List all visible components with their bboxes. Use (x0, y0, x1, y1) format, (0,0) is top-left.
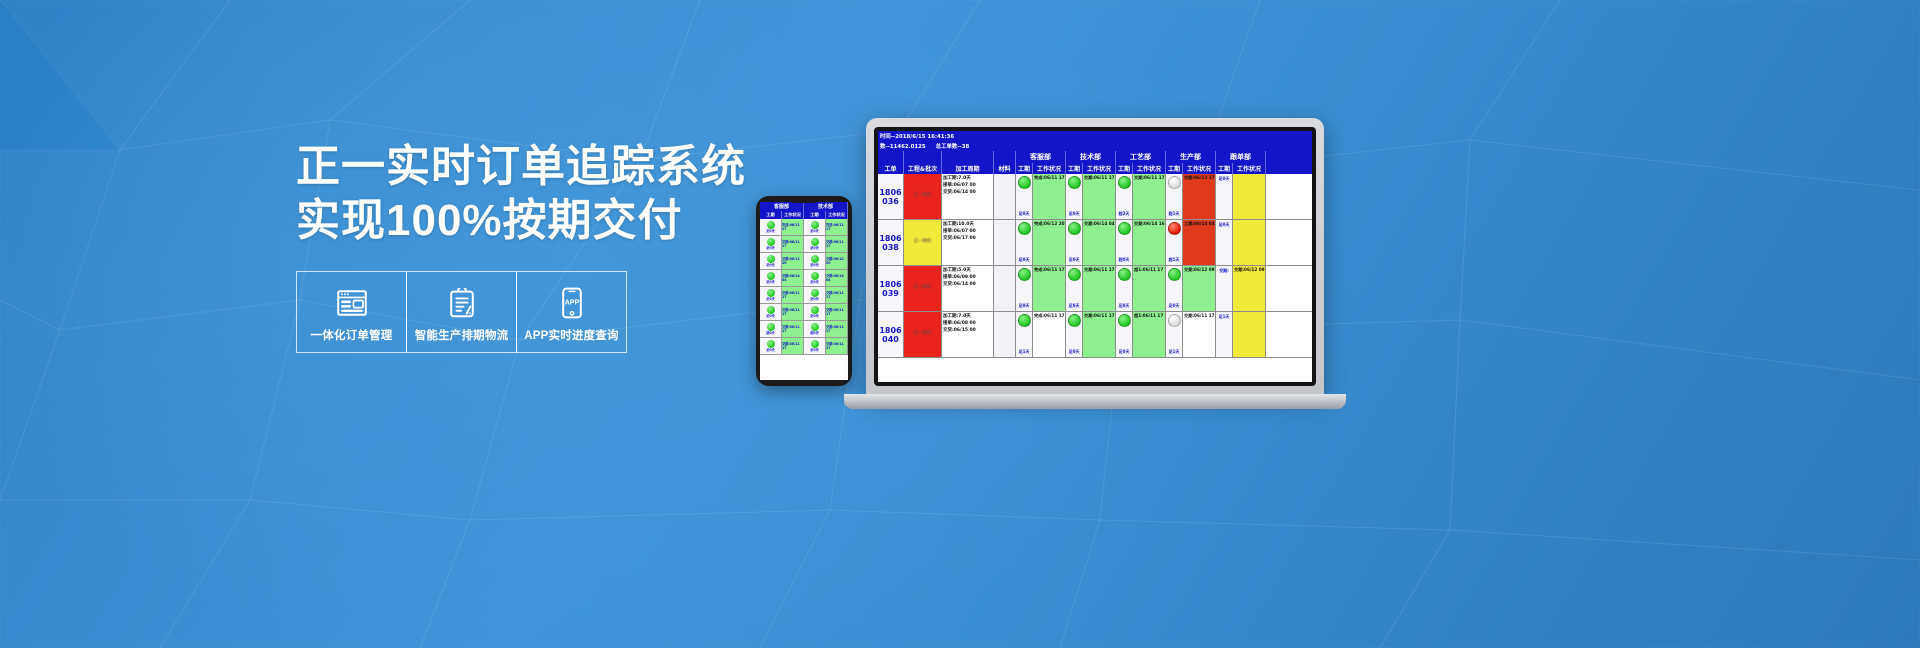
period-line: 接单:06/07 00 (943, 183, 992, 190)
phone-sub-col: 工作状况 (782, 211, 804, 219)
status-indicator-cell[interactable]: 足1天 (1016, 312, 1033, 357)
period-line: 接单:06/07 00 (943, 229, 992, 236)
work-status-line: 超1:06/11 17 (1134, 267, 1164, 273)
work-status-cell[interactable]: 交期:06/12 09 (1233, 266, 1266, 311)
phone-work-line: 交期:06/11 17 (782, 291, 803, 300)
phone-table-row[interactable]: 超0天交期:06/11 17超0天交期:06/11 17 (760, 321, 848, 338)
phone-dept-1: 技术部 (804, 202, 848, 211)
phone-work-cell[interactable]: 交期:06/11 17 (782, 321, 804, 337)
phone-status-dot-green-icon (811, 340, 819, 348)
dashboard-topbar-line2: 数--11462.0125 总工单数--38 (878, 141, 1312, 151)
table-row[interactable]: 1806038正一精机加工期:10.0天接单:06/07 00交货:06/17 … (878, 220, 1312, 266)
clipboard-schedule-icon (449, 286, 475, 320)
status-indicator-cell[interactable]: 足0天 (1116, 266, 1133, 311)
phone-status-note: 足0天 (810, 229, 819, 233)
column-header-1[interactable]: 工程&批次 (904, 163, 942, 174)
headline-line-1: 正一实时订单追踪系统 (296, 142, 746, 191)
work-status-cell[interactable]: 交期:06/11 17 (1083, 174, 1116, 219)
status-indicator-cell[interactable]: 足0天 (1216, 174, 1233, 219)
status-indicator-cell[interactable]: 超1天 (1166, 174, 1183, 219)
work-status-line: 交期:06/14 16 (1134, 221, 1164, 227)
phone-work-line: 交期:06/12 20 (782, 257, 803, 266)
dept-header-spacer (942, 151, 994, 163)
processing-period-cell[interactable]: 加工期:7.0天接单:06/07 00交货:06/14 00 (942, 174, 994, 219)
phone-status-note: 足0天 (810, 263, 819, 267)
work-status-line: 完成:06/11 17 (1034, 267, 1064, 273)
period-line: 交货:06/14 00 (943, 190, 992, 197)
phone-screen: 客服部 技术部 工期 工作状况 工期 工作状况 足0天完成:06/11 17足0… (760, 202, 848, 380)
phone-status-dot-green-icon (767, 289, 775, 297)
project-name: 正一精机 (914, 239, 932, 246)
phone-body: 客服部 技术部 工期 工作状况 工期 工作状况 足0天完成:06/11 17足0… (756, 196, 852, 386)
work-status-cell[interactable] (1233, 312, 1266, 357)
material-cell[interactable] (994, 220, 1016, 265)
processing-period-cell[interactable]: 加工期:10.0天接单:06/07 00交货:06/17 00 (942, 220, 994, 265)
status-note: 足0天 (1069, 257, 1080, 263)
order-number-cell[interactable]: 1806036 (878, 174, 904, 219)
dashboard-count: 数--11462.0125 (880, 142, 926, 150)
sub-header-0-1[interactable]: 工作状况 (1033, 163, 1066, 174)
status-dot-green-icon (1118, 268, 1131, 281)
sub-header-2-1[interactable]: 工作状况 (1133, 163, 1166, 174)
phone-status-note: 足0天 (766, 297, 775, 301)
phone-work-cell[interactable]: 交期:06/11 17 (826, 236, 848, 252)
phone-work-cell[interactable]: 交期:06/11 17 (782, 304, 804, 320)
status-note: 足0天 (1169, 303, 1180, 309)
phone-status-note: 足0天 (766, 314, 775, 318)
phone-work-line: 交期:06/11 17 (826, 342, 847, 351)
phone-status-note: 足0天 (766, 263, 775, 267)
phone-status-note: 超0天 (766, 331, 775, 335)
dept-header-spacer (994, 151, 1016, 163)
work-status-line: 交期:06/11 17 (1134, 175, 1164, 181)
work-status-cell[interactable]: 交期:06/11 17 (1133, 174, 1166, 219)
phone-status-dot-green-icon (811, 323, 819, 331)
phone-table-row[interactable]: 足0天交期:06/12 20足0天交期:06/12 20 (760, 253, 848, 270)
phone-table-row[interactable]: 足0天交期:06/11 17足0天交期:06/11 17 (760, 236, 848, 253)
feature-production-scheduling[interactable]: 智能生产排期物流 (406, 271, 517, 353)
status-note: 足0天 (1019, 257, 1030, 263)
phone-work-line: 交期:06/12 20 (826, 257, 847, 266)
dashboard-time: 时间--2018/6/15 16:41:36 (880, 132, 954, 140)
app-badge-text: APP (564, 297, 579, 306)
phone-work-cell[interactable]: 交期:06/11 17 (782, 338, 804, 354)
phone-status-dot-green-icon (767, 272, 775, 280)
phone-dept-0: 客服部 (760, 202, 804, 211)
status-indicator-cell[interactable]: 足0天 (1066, 220, 1083, 265)
status-note: 足0天 (1119, 303, 1130, 309)
phone-status-note: 足0天 (766, 280, 775, 284)
phone-work-cell[interactable]: 交期:06/11 17 (782, 236, 804, 252)
project-name: 正一精机 (914, 331, 932, 338)
phone-work-cell[interactable]: 完成:06/11 17 (826, 219, 848, 235)
feature-label: 一体化订单管理 (311, 327, 393, 343)
phone-status-dot-green-icon (767, 340, 775, 348)
status-note: 足1天 (1169, 349, 1180, 355)
mobile-app-icon: APP (561, 286, 583, 320)
status-note: 足1天 (1219, 314, 1230, 320)
sub-header-0-0[interactable]: 工期 (1016, 163, 1033, 174)
phone-row-list: 足0天完成:06/11 17足0天完成:06/11 17足0天交期:06/11 … (760, 219, 848, 355)
work-status-cell[interactable]: 完成:06/12 20 (1033, 220, 1066, 265)
phone-sub-col: 工作状况 (826, 211, 848, 219)
material-cell[interactable] (994, 312, 1016, 357)
phone-status-cell[interactable]: 足0天 (804, 287, 826, 303)
laptop-screen: 时间--2018/6/15 16:41:36 数--11462.0125 总工单… (878, 131, 1312, 382)
column-header-0[interactable]: 工单 (878, 163, 904, 174)
status-indicator-cell[interactable]: 足0天 (1016, 174, 1033, 219)
dashboard-topbar: 时间--2018/6/15 16:41:36 数--11462.0125 总工单… (878, 131, 1312, 151)
sub-header-3-1[interactable]: 工作状况 (1183, 163, 1216, 174)
work-status-cell[interactable]: 交期:06/11 17 (1083, 312, 1116, 357)
work-status-cell[interactable]: 交期:06/11 17 (1083, 266, 1116, 311)
period-line: 加工期:5.0天 (943, 268, 992, 275)
project-batch-cell[interactable]: 正一精机 (904, 312, 942, 357)
phone-status-note: 足0天 (810, 280, 819, 284)
status-note: 足0天 (1119, 349, 1130, 355)
phone-sub-col: 工期 (804, 211, 826, 219)
work-status-cell[interactable]: 交期:06/14 16 (1133, 220, 1166, 265)
phone-work-line: 交期:06/11 17 (782, 308, 803, 317)
phone-status-dot-green-icon (811, 238, 819, 246)
dashboard-layout-icon (337, 286, 367, 320)
work-status-cell[interactable]: 超1:06/11 17 (1133, 266, 1166, 311)
laptop-bezel: 时间--2018/6/15 16:41:36 数--11462.0125 总工单… (874, 127, 1316, 386)
work-status-line: 超1:06/11 17 (1134, 313, 1164, 319)
work-status-cell[interactable]: 完成:06/11 17 (1033, 312, 1066, 357)
phone-work-line: 交期:06/11 17 (826, 325, 847, 334)
dashboard-sub-header: 工单工程&批次加工周期材料工期工作状况工期工作状况工期工作状况工期工作状况工期工… (878, 163, 1312, 174)
work-status-line: 交期:06/11 17 (1184, 313, 1214, 319)
period-line: 交货:06/14 00 (943, 282, 992, 289)
phone-status-cell[interactable]: 超0天 (760, 321, 782, 337)
dept-header-4[interactable]: 跟单部 (1216, 151, 1266, 163)
dashboard-topbar-line1: 时间--2018/6/15 16:41:36 (878, 131, 1312, 141)
phone-work-line: 交期:06/14 04 (782, 274, 803, 283)
work-status-line: 交期:06/11 17 (1084, 175, 1114, 181)
processing-period-cell[interactable]: 加工期:5.0天接单:06/09 00交货:06/14 00 (942, 266, 994, 311)
phone-work-cell[interactable]: 交期:06/14 04 (782, 270, 804, 286)
phone-status-cell[interactable]: 足0天 (760, 253, 782, 269)
dashboard-dept-header: 客服部技术部工艺部生产部跟单部 (878, 151, 1312, 163)
status-note: 超2天 (1119, 211, 1130, 217)
project-batch-cell[interactable]: 正一精机 (904, 266, 942, 311)
phone-status-cell[interactable]: 足0天 (804, 236, 826, 252)
sub-header-4-1[interactable]: 工作状况 (1233, 163, 1266, 174)
work-status-line: 交期:06/14 04 (1084, 221, 1114, 227)
status-note: 足1天 (1019, 349, 1030, 355)
column-header-2[interactable]: 加工周期 (942, 163, 994, 174)
sub-header-1-1[interactable]: 工作状况 (1083, 163, 1116, 174)
column-header-3[interactable]: 材料 (994, 163, 1016, 174)
phone-status-dot-green-icon (767, 238, 775, 246)
project-name: 正一精机 (914, 193, 932, 200)
status-note: 超1天 (1169, 257, 1180, 263)
status-dot-green-icon (1018, 268, 1031, 281)
period-line: 接单:06/08 00 (943, 321, 992, 328)
phone-status-dot-green-icon (767, 306, 775, 314)
work-status-cell[interactable] (1233, 174, 1266, 219)
table-row[interactable]: 1806040正一精机加工期:7.0天接单:06/08 00交货:06/15 0… (878, 312, 1312, 358)
status-dot-green-icon (1118, 314, 1131, 327)
phone-status-cell[interactable]: 足0天 (804, 253, 826, 269)
status-note: 交期: (1219, 268, 1229, 274)
status-indicator-cell[interactable]: 足0天 (1216, 220, 1233, 265)
period-line: 加工期:7.0天 (943, 314, 992, 321)
period-line: 加工期:10.0天 (943, 222, 992, 229)
phone-dept-header: 客服部 技术部 (760, 202, 848, 211)
phone-table-row[interactable]: 足0天完成:06/11 17足0天完成:06/11 17 (760, 219, 848, 236)
status-indicator-cell[interactable]: 超0天 (1116, 220, 1133, 265)
status-dot-green-icon (1118, 222, 1131, 235)
work-status-cell[interactable]: 交期:06/12 09 (1183, 266, 1216, 311)
phone-work-cell[interactable]: 交期:06/12 20 (826, 253, 848, 269)
status-indicator-cell[interactable]: 足0天 (1066, 174, 1083, 219)
work-status-line: 交期:06/13 17 (1184, 175, 1214, 181)
phone-status-note: 足0天 (766, 229, 775, 233)
work-status-line: 交期:06/12 09 (1184, 267, 1214, 273)
dept-header-spacer (878, 151, 904, 163)
sub-header-2-0[interactable]: 工期 (1116, 163, 1133, 174)
phone-status-cell[interactable]: 足0天 (760, 304, 782, 320)
dashboard-row-list: 1806036正一精机加工期:7.0天接单:06/07 00交货:06/14 0… (878, 174, 1312, 358)
phone-status-note: 足0天 (766, 348, 775, 352)
status-note: 足0天 (1019, 211, 1030, 217)
status-note: 足0天 (1069, 349, 1080, 355)
status-dot-red-icon (1168, 222, 1181, 235)
project-batch-cell[interactable]: 正一精机 (904, 220, 942, 265)
work-status-line: 交期:06/12 09 (1234, 267, 1264, 273)
phone-work-line: 交期:06/11 17 (826, 240, 847, 249)
phone-work-cell[interactable]: 交期:06/11 17 (826, 304, 848, 320)
status-note: 足0天 (1019, 303, 1030, 309)
phone-work-cell[interactable]: 交期:06/11 17 (826, 287, 848, 303)
status-dot-green-icon (1118, 176, 1131, 189)
phone-status-cell[interactable]: 足0天 (804, 304, 826, 320)
phone-status-dot-green-icon (767, 221, 775, 229)
status-note: 超0天 (1119, 257, 1130, 263)
phone-status-cell[interactable]: 足0天 (760, 338, 782, 354)
status-dot-green-icon (1018, 314, 1031, 327)
order-number-cell[interactable]: 1806038 (878, 220, 904, 265)
period-line: 交货:06/15 00 (943, 328, 992, 335)
status-dot-green-icon (1068, 268, 1081, 281)
work-status-line: 完成:06/11 17 (1034, 175, 1064, 181)
phone-status-note: 足0天 (810, 314, 819, 318)
period-line: 交货:06/17 00 (943, 236, 992, 243)
laptop-mockup: 时间--2018/6/15 16:41:36 数--11462.0125 总工单… (866, 118, 1324, 418)
phone-work-cell[interactable]: 交期:06/14 04 (826, 270, 848, 286)
status-indicator-cell[interactable]: 足0天 (1016, 266, 1033, 311)
project-batch-cell[interactable]: 正一精机 (904, 174, 942, 219)
work-status-cell[interactable]: 交期:06/11 17 (1183, 312, 1216, 357)
status-indicator-cell[interactable]: 超2天 (1116, 174, 1133, 219)
phone-work-cell[interactable]: 交期:06/12 20 (782, 253, 804, 269)
phone-status-cell[interactable]: 超0天 (804, 321, 826, 337)
status-indicator-cell[interactable]: 交期: (1216, 266, 1233, 311)
material-cell[interactable] (994, 174, 1016, 219)
phone-work-cell[interactable]: 交期:06/11 17 (782, 287, 804, 303)
phone-work-line: 完成:06/11 17 (782, 223, 803, 232)
phone-work-line: 完成:06/11 17 (826, 223, 847, 232)
order-number-cell[interactable]: 1806039 (878, 266, 904, 311)
dept-header-1[interactable]: 技术部 (1066, 151, 1116, 163)
work-status-line: 工期:06/14 04 (1184, 221, 1214, 227)
phone-work-line: 交期:06/11 17 (826, 308, 847, 317)
phone-status-dot-green-icon (811, 272, 819, 280)
phone-work-line: 交期:06/11 17 (782, 325, 803, 334)
work-status-cell[interactable]: 交期:06/14 04 (1083, 220, 1116, 265)
laptop-lid: 时间--2018/6/15 16:41:36 数--11462.0125 总工单… (866, 118, 1324, 396)
table-row[interactable]: 1806036正一精机加工期:7.0天接单:06/07 00交货:06/14 0… (878, 174, 1312, 220)
phone-table-row[interactable]: 足0天交期:06/11 17足0天交期:06/11 17 (760, 338, 848, 355)
phone-work-line: 交期:06/11 17 (782, 342, 803, 351)
phone-work-cell[interactable]: 交期:06/11 17 (826, 321, 848, 337)
status-note: 超1天 (1169, 211, 1180, 217)
dept-header-2[interactable]: 工艺部 (1116, 151, 1166, 163)
sub-header-4-0[interactable]: 工期 (1216, 163, 1233, 174)
status-indicator-cell[interactable]: 足1天 (1216, 312, 1233, 357)
phone-status-cell[interactable]: 足0天 (804, 270, 826, 286)
sub-header-3-0[interactable]: 工期 (1166, 163, 1183, 174)
phone-status-cell[interactable]: 足0天 (804, 338, 826, 354)
status-dot-white-icon (1168, 314, 1181, 327)
promo-banner: 正一实时订单追踪系统 实现100%按期交付 (0, 0, 1920, 648)
status-note: 足0天 (1219, 176, 1230, 182)
phone-status-dot-green-icon (767, 323, 775, 331)
phone-status-note: 足0天 (810, 246, 819, 250)
status-note: 足0天 (1069, 303, 1080, 309)
status-indicator-cell[interactable]: 足0天 (1016, 220, 1033, 265)
status-note: 足0天 (1219, 222, 1230, 228)
phone-status-dot-green-icon (767, 255, 775, 263)
status-note: 足0天 (1069, 211, 1080, 217)
phone-table-row[interactable]: 足0天交期:06/14 04足0天交期:06/14 04 (760, 270, 848, 287)
work-status-cell[interactable]: 交期:06/13 17 (1183, 174, 1216, 219)
phone-status-cell[interactable]: 足0天 (804, 219, 826, 235)
laptop-base (844, 394, 1346, 409)
phone-mockup: 客服部 技术部 工期 工作状况 工期 工作状况 足0天完成:06/11 17足0… (756, 196, 852, 386)
status-indicator-cell[interactable]: 超1天 (1166, 220, 1183, 265)
phone-status-dot-green-icon (811, 306, 819, 314)
phone-work-line: 交期:06/11 17 (826, 291, 847, 300)
work-status-line: 交期:06/11 17 (1084, 313, 1114, 319)
status-dot-green-icon (1168, 268, 1181, 281)
table-row[interactable]: 1806039正一精机加工期:5.0天接单:06/09 00交货:06/14 0… (878, 266, 1312, 312)
phone-status-cell[interactable]: 足0天 (760, 270, 782, 286)
phone-sub-header: 工期 工作状况 工期 工作状况 (760, 211, 848, 219)
feature-label: APP实时进度查询 (524, 327, 618, 343)
work-status-line: 交期:06/11 17 (1084, 267, 1114, 273)
feature-label: 智能生产排期物流 (415, 327, 509, 343)
feature-order-management[interactable]: 一体化订单管理 (296, 271, 407, 353)
phone-status-dot-green-icon (811, 255, 819, 263)
status-indicator-cell[interactable]: 足0天 (1116, 312, 1133, 357)
work-status-cell[interactable]: 完成:06/11 17 (1033, 174, 1066, 219)
status-dot-green-icon (1068, 222, 1081, 235)
work-status-cell[interactable]: 超1:06/11 17 (1133, 312, 1166, 357)
dept-header-spacer (904, 151, 942, 163)
phone-status-note: 足0天 (810, 348, 819, 352)
phone-work-cell[interactable]: 完成:06/11 17 (782, 219, 804, 235)
dept-header-0[interactable]: 客服部 (1016, 151, 1066, 163)
phone-table-row[interactable]: 足0天交期:06/11 17足0天交期:06/11 17 (760, 287, 848, 304)
dept-header-3[interactable]: 生产部 (1166, 151, 1216, 163)
status-indicator-cell[interactable]: 足0天 (1066, 312, 1083, 357)
phone-status-note: 超0天 (810, 331, 819, 335)
phone-sub-col: 工期 (760, 211, 782, 219)
feature-app-progress-query[interactable]: APP APP实时进度查询 (516, 271, 627, 353)
work-status-line: 完成:06/12 20 (1034, 221, 1064, 227)
status-dot-white-icon (1168, 176, 1181, 189)
period-line: 加工期:7.0天 (943, 176, 992, 183)
phone-status-note: 足0天 (810, 297, 819, 301)
phone-notch (789, 198, 819, 203)
phone-status-dot-green-icon (811, 289, 819, 297)
work-status-cell[interactable]: 工期:06/14 04 (1183, 220, 1216, 265)
work-status-cell[interactable] (1233, 220, 1266, 265)
status-dot-green-icon (1018, 176, 1031, 189)
dashboard-total: 总工单数--38 (936, 142, 970, 150)
phone-table-row[interactable]: 足0天交期:06/11 17足0天交期:06/11 17 (760, 304, 848, 321)
sub-header-1-0[interactable]: 工期 (1066, 163, 1083, 174)
phone-status-cell[interactable]: 足0天 (760, 287, 782, 303)
phone-status-cell[interactable]: 足0天 (760, 219, 782, 235)
phone-status-dot-green-icon (811, 221, 819, 229)
status-dot-green-icon (1018, 222, 1031, 235)
phone-work-line: 交期:06/14 04 (826, 274, 847, 283)
project-name: 正一精机 (914, 285, 932, 292)
phone-status-cell[interactable]: 足0天 (760, 236, 782, 252)
material-cell[interactable] (994, 266, 1016, 311)
order-number-cell[interactable]: 1806040 (878, 312, 904, 357)
phone-status-note: 足0天 (766, 246, 775, 250)
status-dot-green-icon (1068, 314, 1081, 327)
status-indicator-cell[interactable]: 足1天 (1166, 312, 1183, 357)
status-dot-green-icon (1068, 176, 1081, 189)
period-line: 接单:06/09 00 (943, 275, 992, 282)
status-indicator-cell[interactable]: 足0天 (1066, 266, 1083, 311)
phone-work-line: 交期:06/11 17 (782, 240, 803, 249)
work-status-cell[interactable]: 完成:06/11 17 (1033, 266, 1066, 311)
phone-work-cell[interactable]: 交期:06/11 17 (826, 338, 848, 354)
status-indicator-cell[interactable]: 足0天 (1166, 266, 1183, 311)
processing-period-cell[interactable]: 加工期:7.0天接单:06/08 00交货:06/15 00 (942, 312, 994, 357)
work-status-line: 完成:06/11 17 (1034, 313, 1064, 319)
